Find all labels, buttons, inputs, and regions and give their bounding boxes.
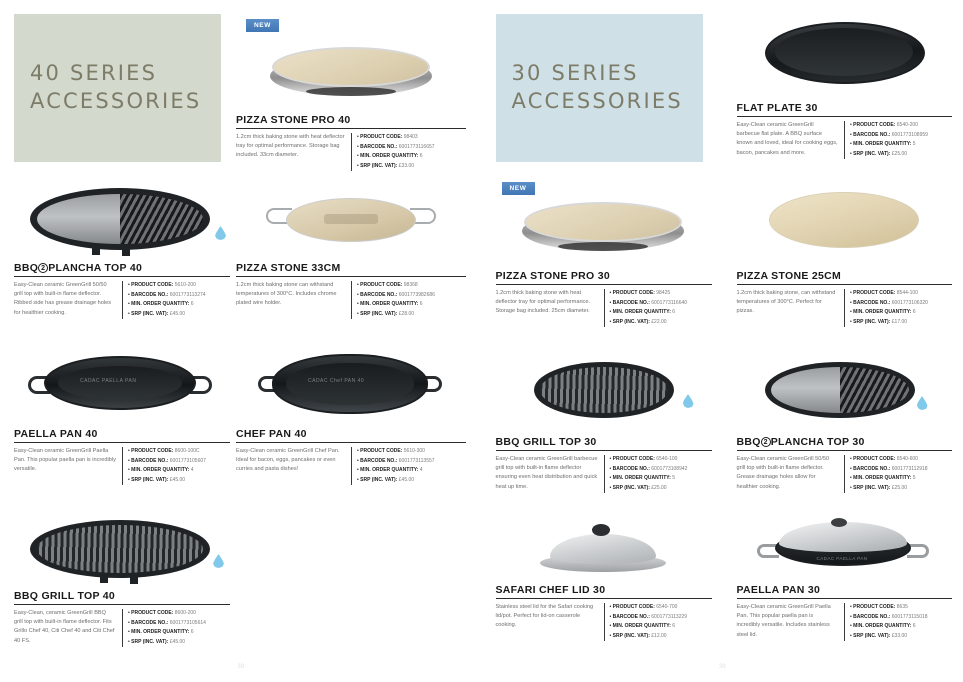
product-title: PIZZA STONE 33CM bbox=[236, 262, 466, 277]
product-specs: • PRODUCT CODE: 6540-700 • BARCODE NO.: … bbox=[604, 603, 712, 641]
product-title-text: BBQ GRILL TOP 40 bbox=[14, 590, 115, 602]
product-description: Easy-Clean ceramic GreenGrill barbecue f… bbox=[737, 121, 845, 159]
spec-product-code: • PRODUCT CODE: 8544-100 bbox=[850, 289, 952, 299]
left-page: 40 SERIES ACCESSORIES NEW PIZZA STONE PR… bbox=[0, 0, 482, 682]
product-specs: • PRODUCT CODE: 6540-100 • BARCODE NO.: … bbox=[604, 455, 712, 493]
product-image-pizza-stone-pro-40 bbox=[236, 32, 466, 114]
spec-srp: • SRP (INC. VAT): £12.00 bbox=[610, 632, 712, 642]
new-badge: NEW bbox=[502, 182, 535, 195]
spec-moq: • MIN. ORDER QUANTITY: 5 bbox=[850, 140, 952, 150]
spec-barcode: • BARCODE NO.: 6001773116640 bbox=[610, 299, 712, 309]
spec-barcode: • BARCODE NO.: 6001773105614 bbox=[128, 619, 230, 629]
product-card-bbq-grill-top-30[interactable]: BBQ GRILL TOP 30 Easy-Clean ceramic Gree… bbox=[496, 352, 712, 493]
spec-moq: • MIN. ORDER QUANTITY: 6 bbox=[128, 628, 230, 638]
spec-barcode: • BARCODE NO.: 6001773108942 bbox=[610, 465, 712, 475]
product-description: Easy-Clean ceramic GreenGrill Paella Pan… bbox=[14, 447, 122, 485]
series-banner-line1: 40 SERIES bbox=[30, 60, 221, 88]
product-title: PIZZA STONE PRO 40 bbox=[236, 114, 466, 129]
product-description: Easy-Clean ceramic GreenGrill barbecue g… bbox=[496, 455, 604, 493]
spec-product-code: • PRODUCT CODE: 8635 bbox=[850, 603, 952, 613]
spec-srp: • SRP (INC. VAT): £45.00 bbox=[128, 310, 230, 320]
product-title: BBQ GRILL TOP 30 bbox=[496, 436, 712, 451]
product-specs: • PRODUCT CODE: 98425 • BARCODE NO.: 600… bbox=[604, 289, 712, 327]
product-description: Easy-Clean, ceramic GreenGrill BBQ grill… bbox=[14, 609, 122, 647]
product-image-chef-pan-40: CADAC Chef PAN 40 bbox=[236, 348, 466, 428]
spec-product-code: • PRODUCT CODE: 8600-200 bbox=[128, 609, 230, 619]
spec-srp: • SRP (INC. VAT): £28.00 bbox=[357, 310, 466, 320]
product-description: Easy-Clean ceramic GreenGrill 50/50 gril… bbox=[737, 455, 845, 493]
product-card-bbq2plancha-top-40[interactable]: BBQ2PLANCHA TOP 40 Easy-Clean ceramic Gr… bbox=[14, 182, 230, 319]
product-title-text: BBQ GRILL TOP 30 bbox=[496, 436, 597, 448]
series-banner-40: 40 SERIES ACCESSORIES bbox=[14, 14, 221, 162]
product-image-flat-plate-30 bbox=[737, 14, 952, 102]
spec-product-code: • PRODUCT CODE: 6540-200 bbox=[850, 121, 952, 131]
product-title: BBQ GRILL TOP 40 bbox=[14, 590, 230, 605]
spec-moq: • MIN. ORDER QUANTITY: 6 bbox=[357, 300, 466, 310]
product-image-bbq2plancha-top-30 bbox=[737, 352, 952, 436]
product-card-chef-pan-40[interactable]: CADAC Chef PAN 40 CHEF PAN 40 Easy-Clean… bbox=[236, 348, 466, 485]
spec-srp: • SRP (INC. VAT): £45.00 bbox=[357, 476, 466, 486]
spec-barcode: • BARCODE NO.: 6001773113557 bbox=[357, 457, 466, 467]
product-title: BBQ2PLANCHA TOP 40 bbox=[14, 262, 230, 277]
spec-moq: • MIN. ORDER QUANTITY: 6 bbox=[610, 308, 712, 318]
spec-barcode: • BARCODE NO.: 6001773112918 bbox=[850, 465, 952, 475]
product-specs: • PRODUCT CODE: 8544-100 • BARCODE NO.: … bbox=[844, 289, 952, 327]
product-title: FLAT PLATE 30 bbox=[737, 102, 952, 117]
spec-moq: • MIN. ORDER QUANTITY: 6 bbox=[357, 152, 466, 162]
water-drop-icon bbox=[213, 554, 224, 568]
spec-srp: • SRP (INC. VAT): £33.00 bbox=[850, 632, 952, 642]
spec-moq: • MIN. ORDER QUANTITY: 5 bbox=[610, 474, 712, 484]
product-specs: • PRODUCT CODE: 98368 • BARCODE NO.: 600… bbox=[351, 281, 466, 319]
spec-product-code: • PRODUCT CODE: 8600-100C bbox=[128, 447, 230, 457]
spec-srp: • SRP (INC. VAT): £22.00 bbox=[610, 318, 712, 328]
spec-product-code: • PRODUCT CODE: 98368 bbox=[357, 281, 466, 291]
page-number-left: 38 bbox=[0, 664, 482, 670]
product-description: 1.2cm thick baking stone with heat defle… bbox=[236, 133, 351, 171]
spec-moq: • MIN. ORDER QUANTITY: 6 bbox=[128, 300, 230, 310]
product-title-text: SAFARI CHEF LID 30 bbox=[496, 584, 606, 596]
spec-barcode: • BARCODE NO.: 6001773116657 bbox=[357, 143, 466, 153]
product-image-bbq-grill-top-40 bbox=[14, 512, 230, 590]
spec-moq: • MIN. ORDER QUANTITY: 4 bbox=[128, 466, 230, 476]
product-description: Easy-Clean ceramic GreenGrill 50/50 gril… bbox=[14, 281, 122, 319]
product-description: Stainless steel lid for the Safari cooki… bbox=[496, 603, 604, 641]
spec-product-code: • PRODUCT CODE: 5610-200 bbox=[128, 281, 230, 291]
spec-moq: • MIN. ORDER QUANTITY: 6 bbox=[850, 622, 952, 632]
product-image-paella-pan-30: CADAC PAELLA PAN bbox=[737, 512, 952, 584]
product-description: 1.2cm thick baking stone with heat defle… bbox=[496, 289, 604, 327]
product-title: SAFARI CHEF LID 30 bbox=[496, 584, 712, 599]
product-image-bbq-grill-top-30 bbox=[496, 352, 712, 436]
spec-srp: • SRP (INC. VAT): £17.00 bbox=[850, 318, 952, 328]
spec-barcode: • BARCODE NO.: 6001773106320 bbox=[850, 299, 952, 309]
product-card-bbq2plancha-top-30[interactable]: BBQ2PLANCHA TOP 30 Easy-Clean ceramic Gr… bbox=[737, 352, 952, 493]
product-image-safari-chef-lid-30 bbox=[496, 512, 712, 584]
product-specs: • PRODUCT CODE: 6540-600 • BARCODE NO.: … bbox=[844, 455, 952, 493]
water-drop-icon bbox=[917, 396, 928, 410]
product-card-pizza-stone-33cm[interactable]: PIZZA STONE 33CM 1.2cm thick baking ston… bbox=[236, 182, 466, 319]
spec-srp: • SRP (INC. VAT): £45.00 bbox=[128, 476, 230, 486]
product-title-text: PIZZA STONE 33CM bbox=[236, 262, 341, 274]
product-image-pizza-stone-25cm bbox=[737, 182, 952, 270]
product-image-bbq2plancha-top-40 bbox=[14, 182, 230, 262]
series-banner-line2: ACCESSORIES bbox=[30, 88, 221, 116]
spec-barcode: • BARCODE NO.: 6001773105607 bbox=[128, 457, 230, 467]
product-specs: • PRODUCT CODE: 8635 • BARCODE NO.: 6001… bbox=[844, 603, 952, 641]
product-specs: • PRODUCT CODE: 6540-200 • BARCODE NO.: … bbox=[844, 121, 952, 159]
series-banner-line2: ACCESSORIES bbox=[512, 88, 703, 116]
product-title-text-post: PLANCHA TOP 30 bbox=[771, 436, 865, 448]
product-specs: • PRODUCT CODE: 8600-100C • BARCODE NO.:… bbox=[122, 447, 230, 485]
product-title-text: PIZZA STONE PRO 30 bbox=[496, 270, 611, 282]
product-title: PAELLA PAN 40 bbox=[14, 428, 230, 443]
superscript-two: 2 bbox=[38, 263, 48, 273]
product-title-text: FLAT PLATE 30 bbox=[737, 102, 818, 114]
product-card-pizza-stone-pro-30[interactable]: NEW PIZZA STONE PRO 30 1.2cm thick bakin… bbox=[496, 182, 712, 327]
superscript-two: 2 bbox=[761, 437, 771, 447]
series-banner-line1: 30 SERIES bbox=[512, 60, 703, 88]
spec-barcode: • BARCODE NO.: 6001773108959 bbox=[850, 131, 952, 141]
product-title: PAELLA PAN 30 bbox=[737, 584, 952, 599]
product-card-pizza-stone-25cm[interactable]: PIZZA STONE 25CM 1.2cm thick baking ston… bbox=[737, 182, 952, 327]
product-title-text: PIZZA STONE PRO 40 bbox=[236, 114, 351, 126]
spec-srp: • SRP (INC. VAT): £25.00 bbox=[610, 484, 712, 494]
product-title: CHEF PAN 40 bbox=[236, 428, 466, 443]
spec-moq: • MIN. ORDER QUANTITY: 5 bbox=[850, 474, 952, 484]
product-description: Easy-Clean ceramic GreenGrill Paella Pan… bbox=[737, 603, 845, 641]
spec-product-code: • PRODUCT CODE: 6540-700 bbox=[610, 603, 712, 613]
spec-product-code: • PRODUCT CODE: 6540-600 bbox=[850, 455, 952, 465]
product-specs: • PRODUCT CODE: 5610-200 • BARCODE NO.: … bbox=[122, 281, 230, 319]
spec-srp: • SRP (INC. VAT): £33.00 bbox=[357, 162, 466, 172]
spec-product-code: • PRODUCT CODE: 6540-100 bbox=[610, 455, 712, 465]
spec-product-code: • PRODUCT CODE: 5610-300 bbox=[357, 447, 466, 457]
spec-barcode: • BARCODE NO.: 6001773113274 bbox=[128, 291, 230, 301]
product-description: Easy-Clean ceramic GreenGrill Chef Pan. … bbox=[236, 447, 351, 485]
product-title-text: PAELLA PAN 40 bbox=[14, 428, 98, 440]
product-specs: • PRODUCT CODE: 8600-200 • BARCODE NO.: … bbox=[122, 609, 230, 647]
right-page: 30 SERIES ACCESSORIES FLAT PLATE 30 Easy… bbox=[482, 0, 963, 682]
new-badge: NEW bbox=[246, 19, 279, 32]
product-card-pizza-stone-pro-40[interactable]: NEW PIZZA STONE PRO 40 1.2cm thick bakin… bbox=[236, 14, 466, 171]
product-card-paella-pan-40[interactable]: CADAC PAELLA PAN PAELLA PAN 40 Easy-Clea… bbox=[14, 348, 230, 485]
product-image-pizza-stone-33cm bbox=[236, 182, 466, 262]
product-title-text: PAELLA PAN 30 bbox=[737, 584, 821, 596]
spec-moq: • MIN. ORDER QUANTITY: 4 bbox=[357, 466, 466, 476]
product-title: PIZZA STONE PRO 30 bbox=[496, 270, 712, 285]
product-card-flat-plate-30[interactable]: FLAT PLATE 30 Easy-Clean ceramic GreenGr… bbox=[737, 14, 952, 159]
spec-srp: • SRP (INC. VAT): £45.00 bbox=[128, 638, 230, 648]
product-description: 1.2cm thick baking stone, can withstand … bbox=[737, 289, 845, 327]
spec-product-code: • PRODUCT CODE: 98403 bbox=[357, 133, 466, 143]
spec-srp: • SRP (INC. VAT): £25.00 bbox=[850, 150, 952, 160]
product-card-paella-pan-30[interactable]: CADAC PAELLA PAN PAELLA PAN 30 Easy-Clea… bbox=[737, 512, 952, 641]
product-card-safari-chef-lid-30[interactable]: SAFARI CHEF LID 30 Stainless steel lid f… bbox=[496, 512, 712, 641]
page-number-right: 39 bbox=[482, 664, 963, 670]
product-description: 1.2cm thick baking stone can withstand t… bbox=[236, 281, 351, 319]
product-title: BBQ2PLANCHA TOP 30 bbox=[737, 436, 952, 451]
spec-barcode: • BARCODE NO.: 6001773113229 bbox=[610, 613, 712, 623]
spec-barcode: • BARCODE NO.: 6001773115018 bbox=[850, 613, 952, 623]
spec-moq: • MIN. ORDER QUANTITY: 6 bbox=[850, 308, 952, 318]
spec-srp: • SRP (INC. VAT): £25.00 bbox=[850, 484, 952, 494]
water-drop-icon bbox=[683, 394, 694, 408]
product-specs: • PRODUCT CODE: 98403 • BARCODE NO.: 600… bbox=[351, 133, 466, 171]
product-image-pizza-stone-pro-30 bbox=[496, 198, 712, 270]
catalog-spread: 40 SERIES ACCESSORIES NEW PIZZA STONE PR… bbox=[0, 0, 963, 682]
product-title-text-post: PLANCHA TOP 40 bbox=[48, 262, 142, 274]
product-title: PIZZA STONE 25CM bbox=[737, 270, 952, 285]
product-card-bbq-grill-top-40[interactable]: BBQ GRILL TOP 40 Easy-Clean, ceramic Gre… bbox=[14, 512, 230, 647]
product-title-text: CHEF PAN 40 bbox=[236, 428, 307, 440]
product-title-text: BBQ bbox=[14, 262, 38, 274]
product-title-text: BBQ bbox=[737, 436, 761, 448]
product-image-paella-pan-40: CADAC PAELLA PAN bbox=[14, 348, 230, 428]
product-title-text: PIZZA STONE 25CM bbox=[737, 270, 842, 282]
product-specs: • PRODUCT CODE: 5610-300 • BARCODE NO.: … bbox=[351, 447, 466, 485]
series-banner-30: 30 SERIES ACCESSORIES bbox=[496, 14, 703, 162]
spec-product-code: • PRODUCT CODE: 98425 bbox=[610, 289, 712, 299]
spec-moq: • MIN. ORDER QUANTITY: 6 bbox=[610, 622, 712, 632]
spec-barcode: • BARCODE NO.: 6001773982686 bbox=[357, 291, 466, 301]
water-drop-icon bbox=[215, 226, 226, 240]
